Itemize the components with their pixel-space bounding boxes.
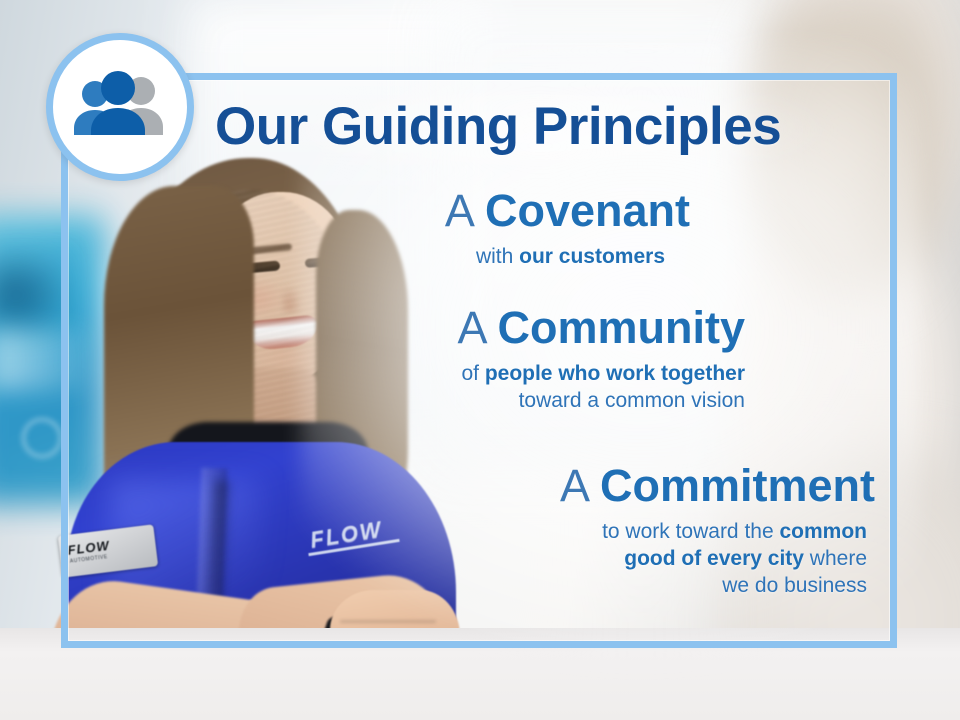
text-run: toward a common vision [519,389,745,412]
principle-covenant-article: A [445,185,485,236]
principle-covenant: A Covenant with our customers [0,188,690,270]
page-title: Our Guiding Principles [215,96,865,157]
poster-canvas: FLOW AUTOMOTIVE FLOW [0,0,960,720]
text-run-bold: our customers [519,245,665,268]
principle-community-article: A [457,302,497,353]
text-run: where [804,547,867,570]
principle-commitment-headline: A Commitment [0,463,875,510]
principle-community-subline-1: toward a common vision [0,387,745,414]
principle-covenant-subline-0: with our customers [0,243,665,270]
principle-commitment-subline-2: we do business [0,572,867,599]
principle-community-subline-0: of people who work together [0,360,745,387]
text-run-bold: common [779,520,867,543]
poster-text-content: Our Guiding Principles A Covenant with o… [0,0,960,720]
principle-commitment-subline-1: good of every city where [0,545,867,572]
text-run: with [476,245,519,268]
principle-covenant-headline: A Covenant [0,188,690,235]
text-run: we do business [722,574,867,597]
principle-covenant-subtext: with our customers [0,243,690,270]
principle-commitment: A Commitment to work toward the common g… [0,463,875,600]
principle-commitment-article: A [560,460,600,511]
principle-community-headline: A Community [0,305,745,352]
text-run-bold: good of every city [624,547,804,570]
text-run-bold: people who work together [485,362,745,385]
text-run: of [461,362,484,385]
principle-community-keyword: Community [498,302,746,353]
principle-commitment-subtext: to work toward the common good of every … [0,518,875,600]
principle-commitment-subline-0: to work toward the common [0,518,867,545]
principle-covenant-keyword: Covenant [485,185,690,236]
text-run: to work toward the [602,520,779,543]
principle-community: A Community of people who work together … [0,305,745,414]
principle-commitment-keyword: Commitment [600,460,875,511]
principle-community-subtext: of people who work together toward a com… [0,360,745,415]
